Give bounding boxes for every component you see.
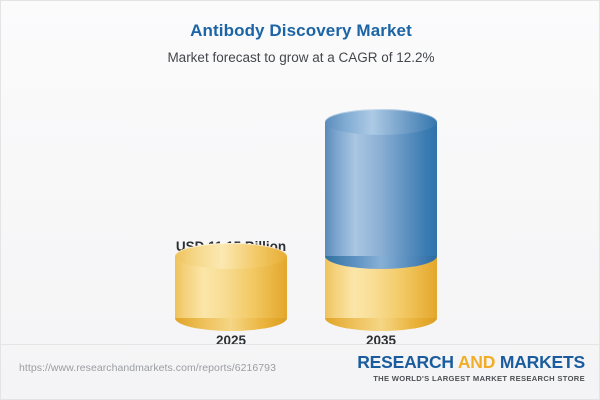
logo-text-and: AND <box>458 352 495 372</box>
cylinder-segment-base-2025 <box>175 256 287 318</box>
research-and-markets-logo[interactable]: RESEARCH AND MARKETS THE WORLD'S LARGEST… <box>357 353 585 383</box>
logo-tagline: THE WORLD'S LARGEST MARKET RESEARCH STOR… <box>357 374 585 383</box>
chart-title: Antibody Discovery Market <box>1 21 600 41</box>
cylinder-top-cap <box>325 109 437 135</box>
cylinder-top-cap <box>175 243 287 269</box>
chart-footer: https://www.researchandmarkets.com/repor… <box>1 344 600 399</box>
logo-text-markets: MARKETS <box>500 352 585 372</box>
cylinder-body <box>325 122 437 256</box>
logo-wordmark: RESEARCH AND MARKETS <box>357 353 585 371</box>
chart-subtitle: Market forecast to grow at a CAGR of 12.… <box>1 50 600 65</box>
chart-plot-area: USD 11.15 Billion 2025 USD 35.35 Billion <box>1 81 600 346</box>
cylinder-segment-growth-2035 <box>325 122 437 256</box>
chart-header: Antibody Discovery Market Market forecas… <box>1 21 600 65</box>
report-url-link[interactable]: https://www.researchandmarkets.com/repor… <box>19 362 276 374</box>
logo-text-research: RESEARCH <box>357 352 454 372</box>
chart-card: Antibody Discovery Market Market forecas… <box>0 0 600 400</box>
